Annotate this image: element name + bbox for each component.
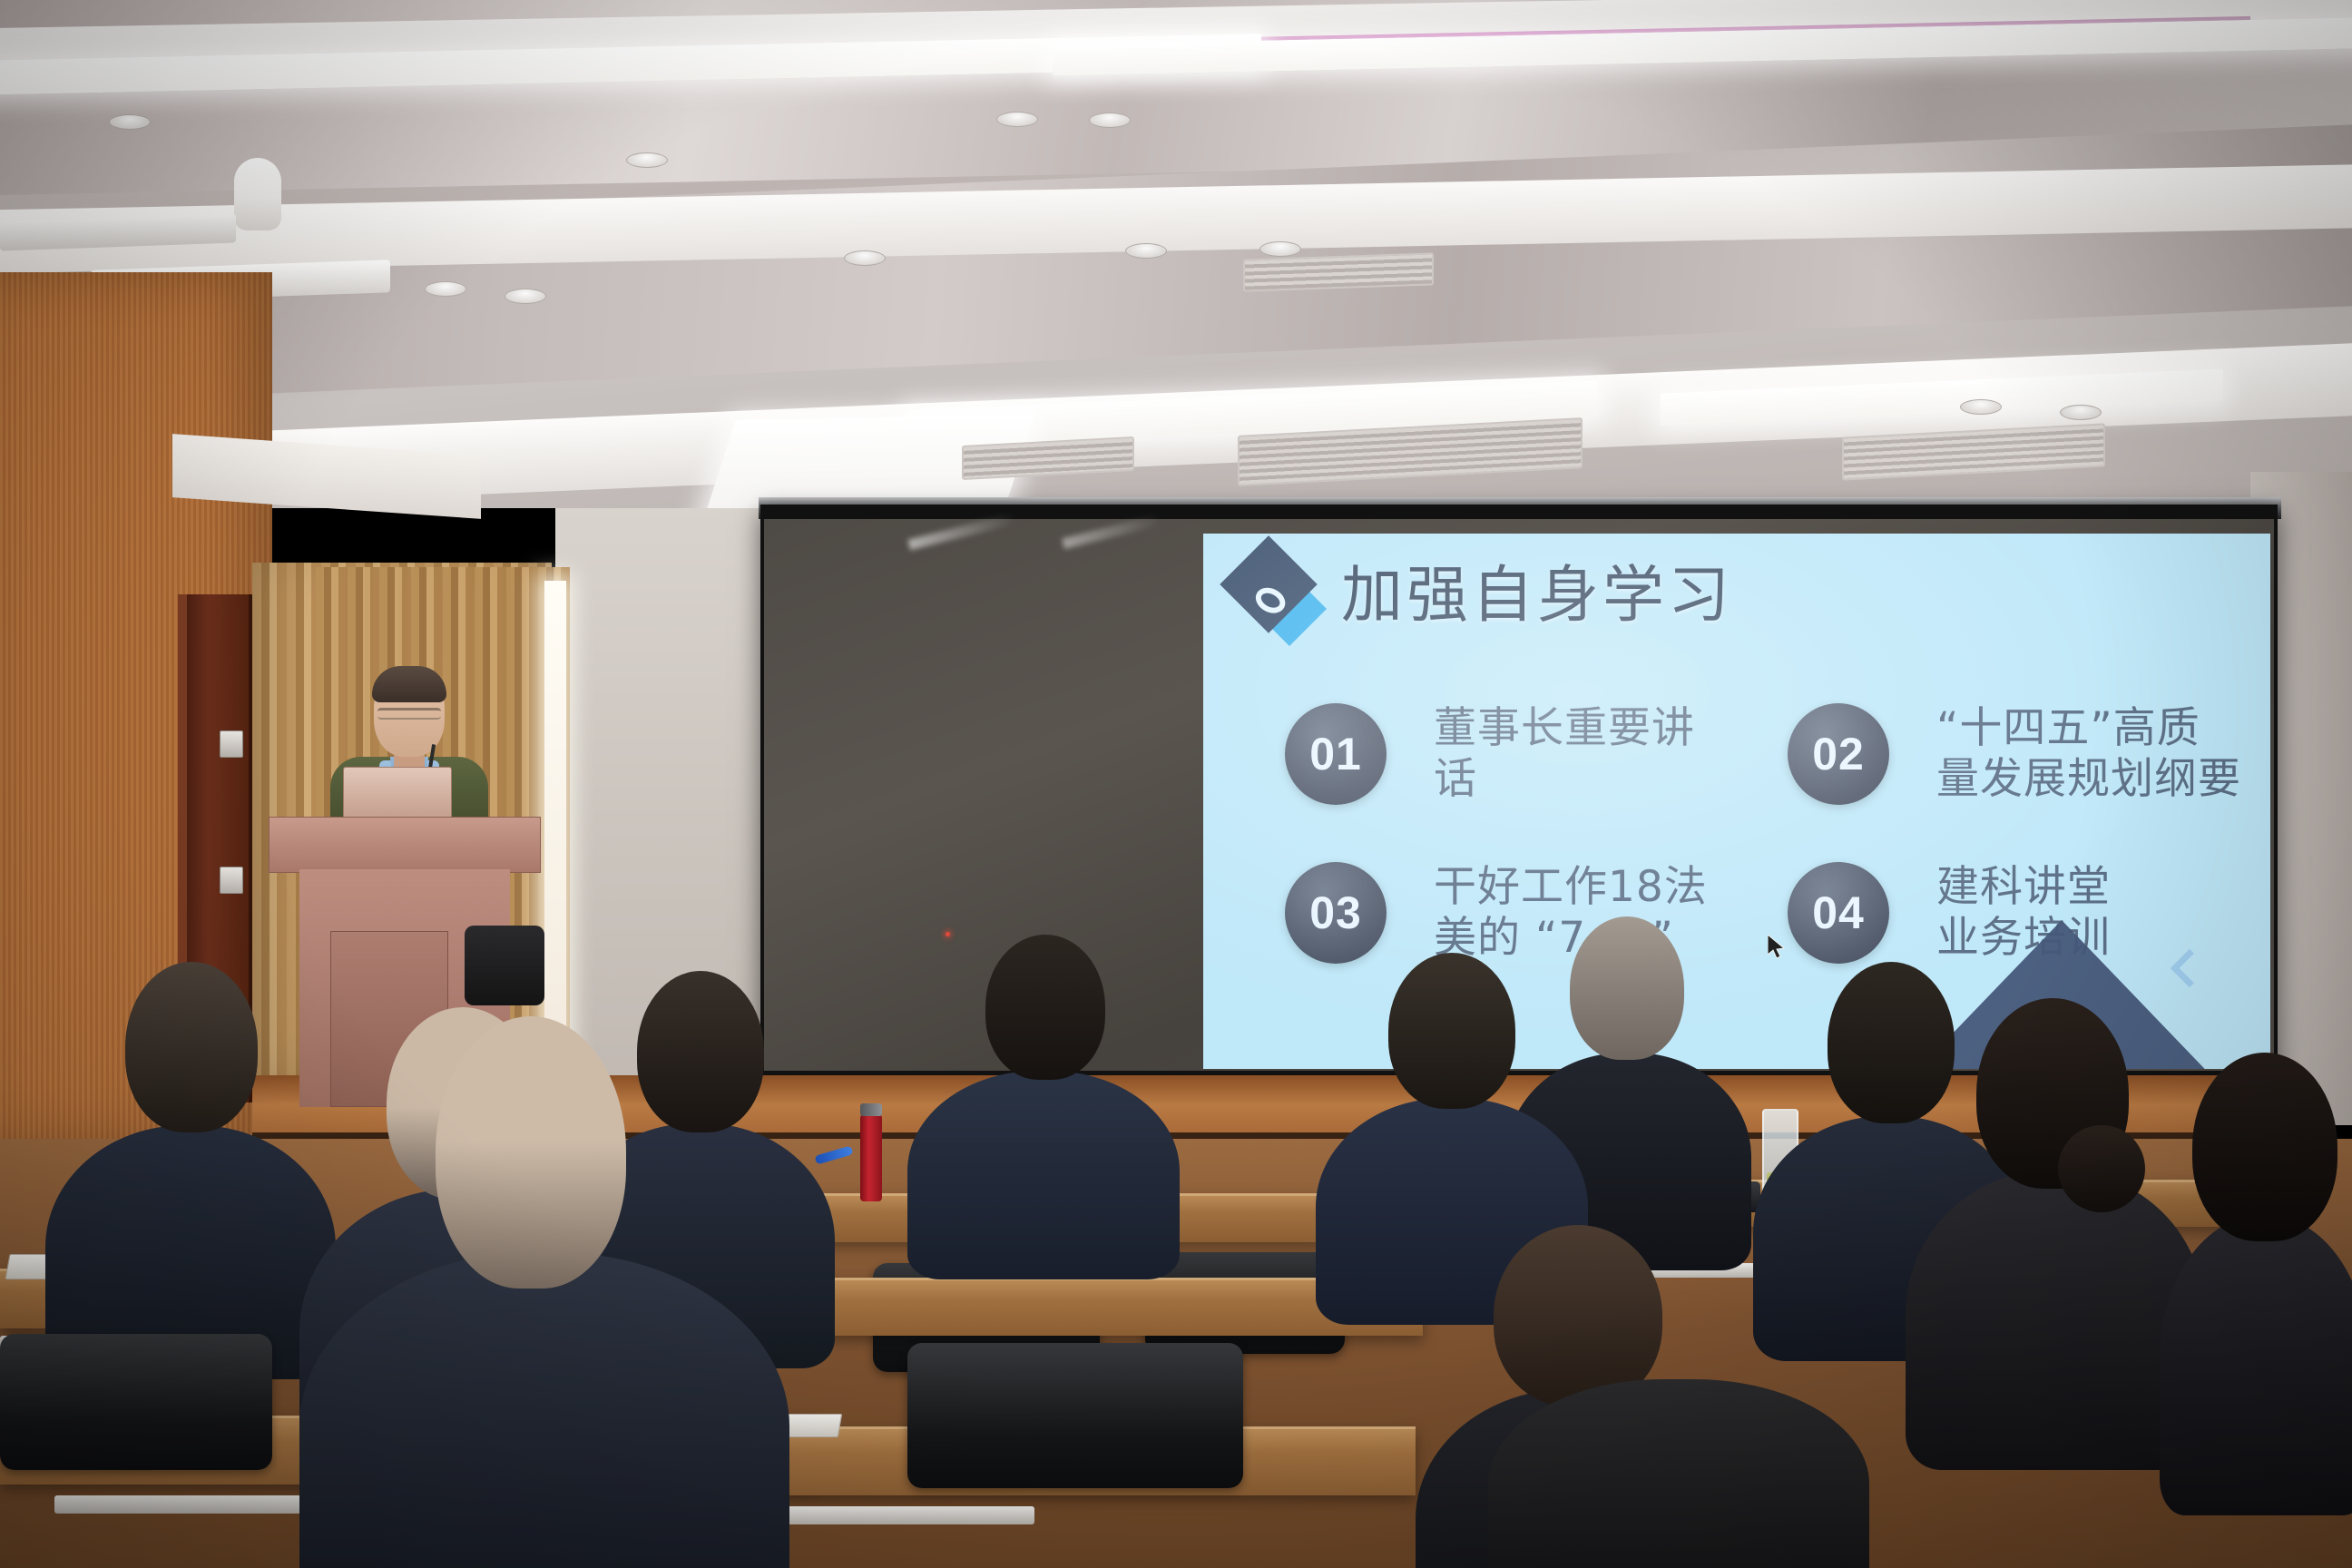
slide-item-02[interactable]: 02 “十四五”高质 量发展规划纲要 [1737, 674, 2270, 833]
podium-top [269, 817, 541, 873]
smoke-detector-icon [109, 114, 151, 130]
red-thermos-flask [860, 1114, 882, 1201]
smoke-detector-icon [1089, 113, 1131, 128]
smoke-detector-icon [844, 250, 886, 266]
slide-item-01[interactable]: 01 董事长重要讲话 [1203, 674, 1737, 833]
attendee-center-3 [1379, 1379, 1960, 1568]
item-number-badge: 02 [1788, 703, 1889, 805]
item-label: “十四五”高质 量发展规划纲要 [1936, 703, 2241, 804]
conference-room-scene: 加强自身学习 01 董事长重要讲话 02 “十四五”高质 量发展规划纲要 03 … [0, 0, 2352, 1568]
air-conditioning-vent [1243, 252, 1434, 291]
chair[interactable] [907, 1343, 1243, 1488]
smoke-detector-icon [1125, 243, 1167, 259]
slide-title: 加强自身学习 [1341, 544, 1733, 634]
attendee-left-1 [45, 962, 336, 1298]
podium-laptop [343, 767, 452, 819]
attendee-right-5 [2160, 1053, 2352, 1434]
item-number-badge: 01 [1285, 703, 1387, 805]
logo-o-ring-icon [1251, 583, 1289, 618]
smoke-detector-icon [626, 152, 668, 168]
stage-chair [465, 926, 544, 1005]
smoke-detector-icon [425, 281, 466, 297]
attendee-left-4 [299, 1016, 789, 1568]
smoke-detector-icon [1259, 241, 1301, 257]
door-hinge-plate [220, 730, 243, 758]
mouse-pointer [1768, 935, 1788, 962]
ceiling [0, 0, 2352, 508]
item-label: 董事长重要讲话 [1434, 703, 1737, 804]
slide-item-row: 01 董事长重要讲话 02 “十四五”高质 量发展规划纲要 [1203, 674, 2270, 833]
attendee-right-2 [1316, 953, 1588, 1261]
ponytail [2058, 1125, 2145, 1212]
glasses-icon [377, 708, 441, 720]
chair[interactable] [0, 1334, 272, 1470]
door-hinge-plate [220, 867, 243, 894]
diamond-o-logo [1223, 543, 1328, 639]
attendee-center-1 [907, 935, 1180, 1234]
smoke-detector-icon [1960, 399, 2002, 415]
presenter-hair [372, 666, 446, 702]
sprinkler-head [234, 158, 281, 230]
smoke-detector-icon [2060, 405, 2102, 420]
smoke-detector-icon [996, 112, 1038, 127]
smoke-detector-icon [505, 289, 546, 304]
item-number-badge: 03 [1285, 862, 1387, 964]
